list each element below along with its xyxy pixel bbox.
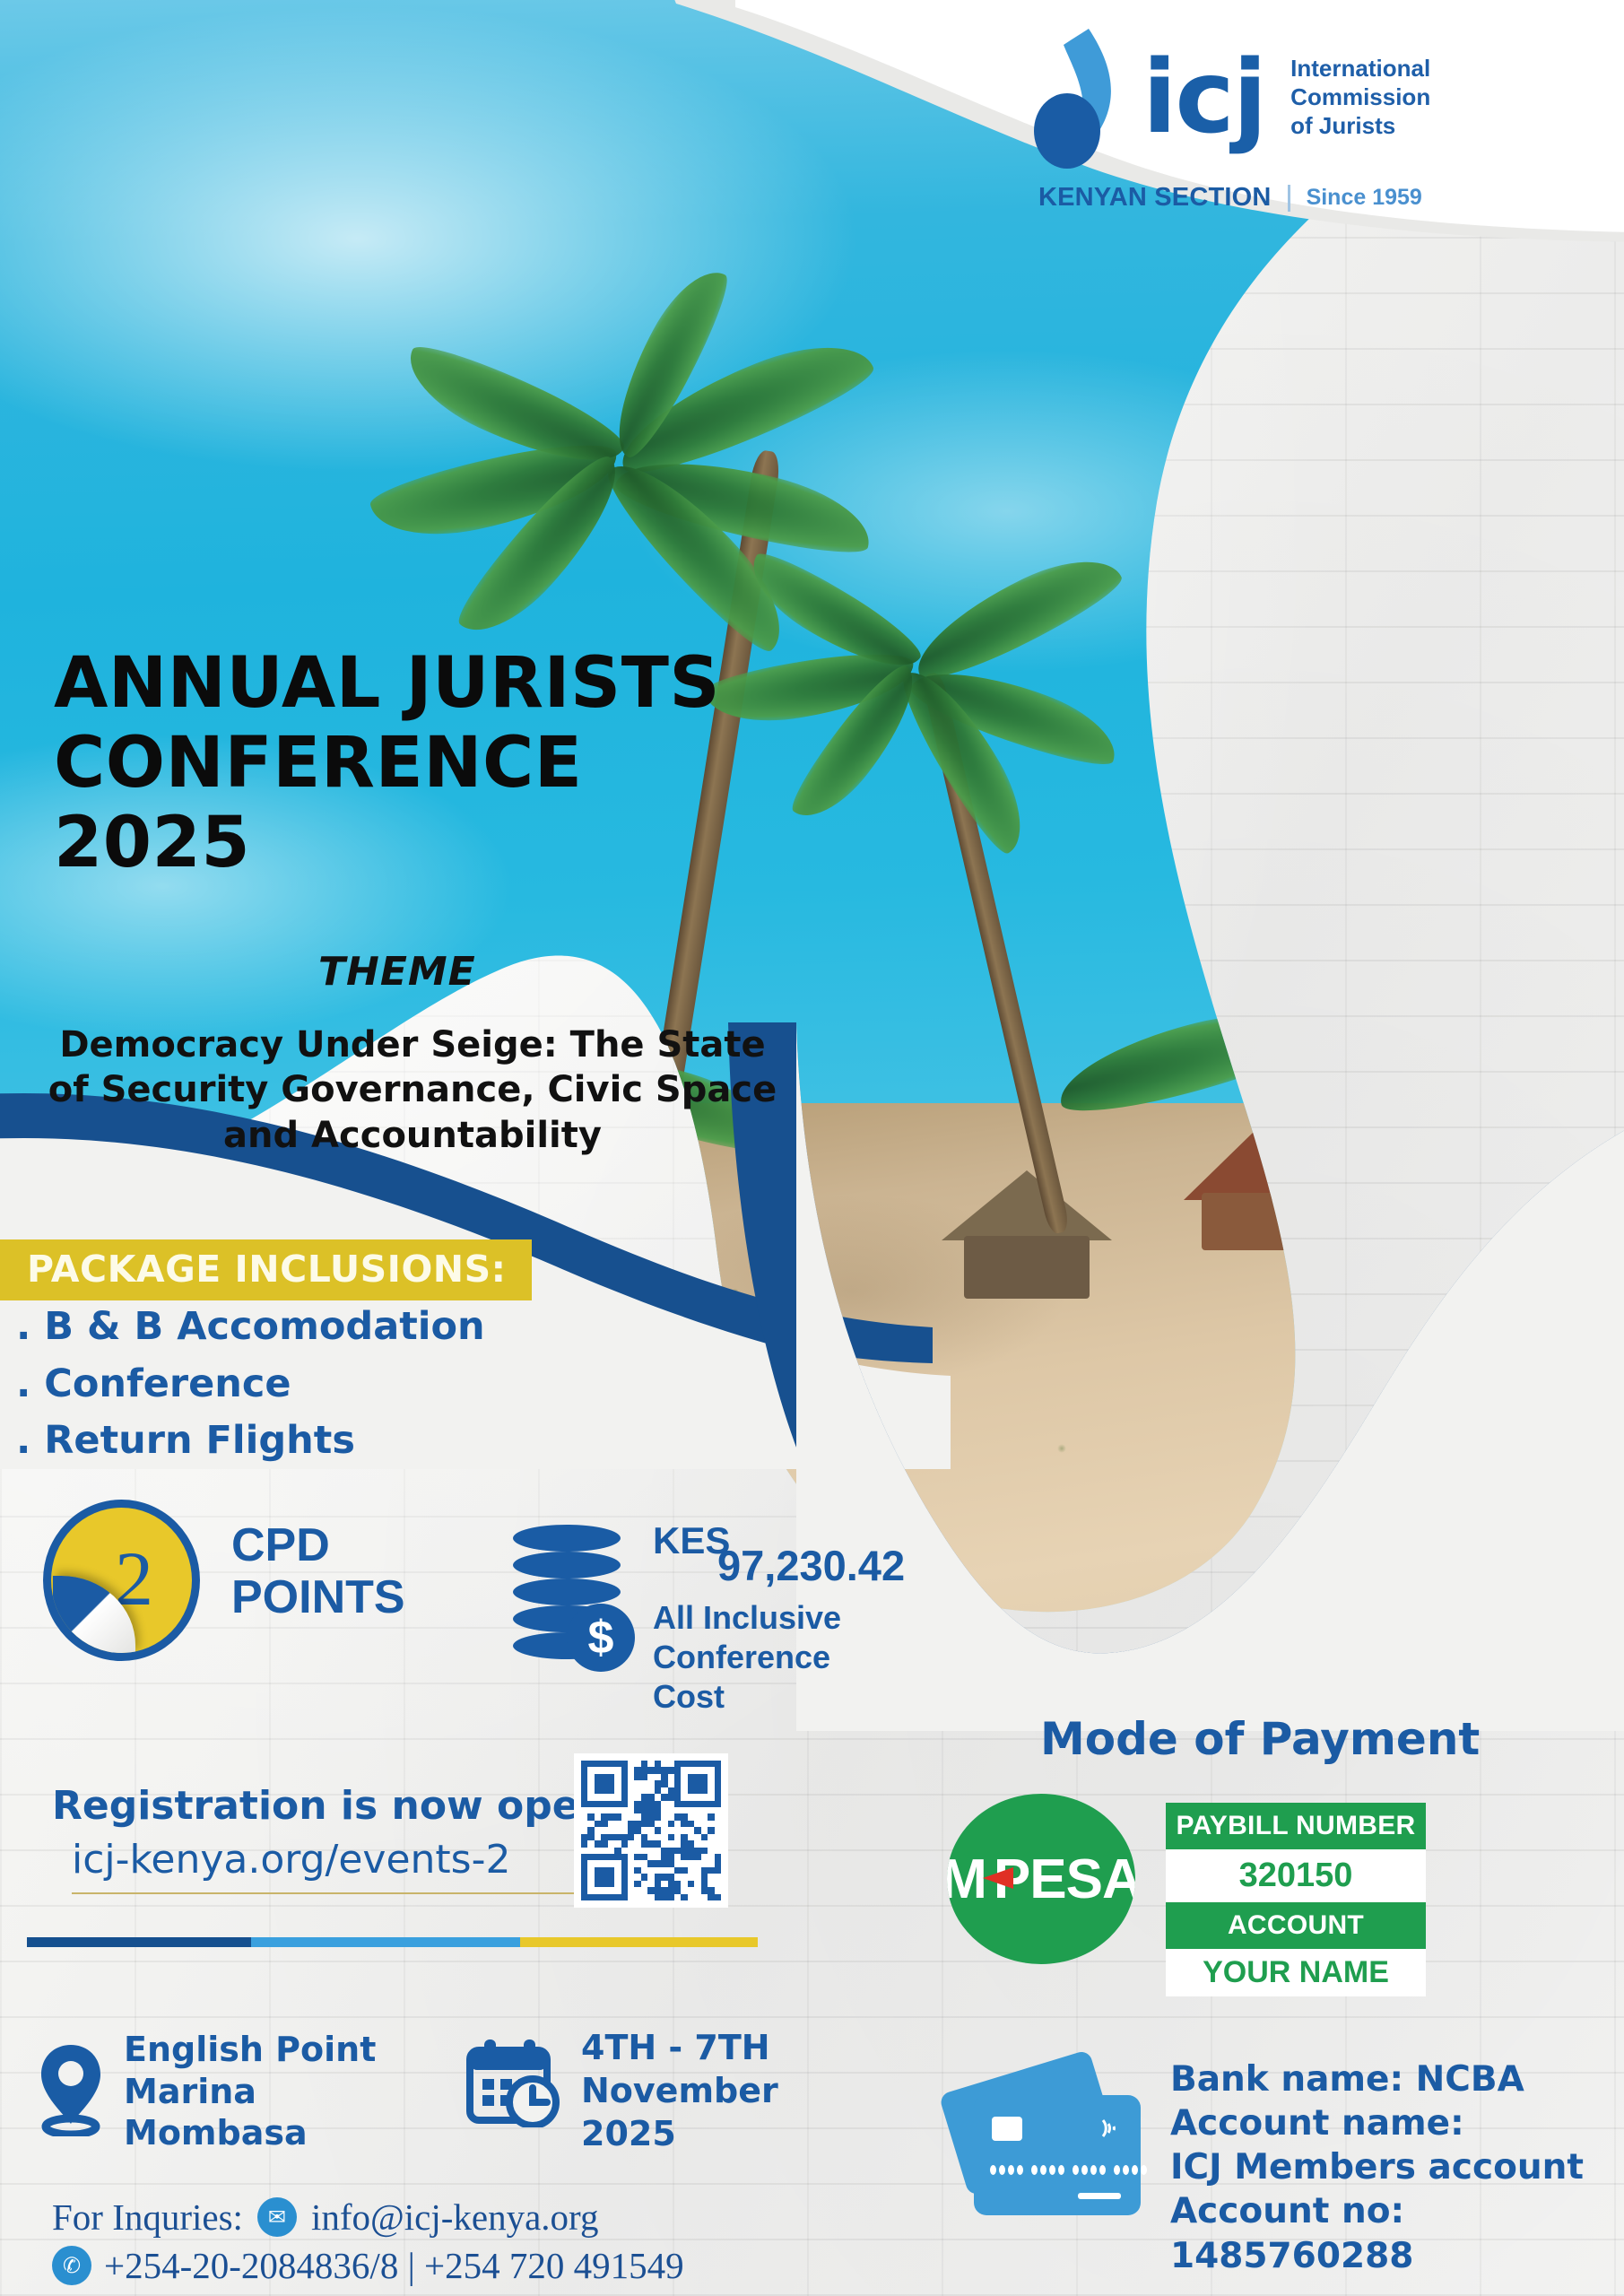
cpd-circle: 2: [43, 1500, 200, 1661]
account-value: YOUR NAME: [1166, 1949, 1426, 1996]
account-no-label: Account no:: [1170, 2189, 1584, 2233]
venue-address: English Point Marina Mombasa: [124, 2029, 376, 2154]
divider-segment-dark-blue: [27, 1937, 251, 1947]
logo-divider: [1288, 185, 1290, 212]
conference-poster: icj International Commission of Jurists …: [0, 0, 1624, 2296]
icj-logo: icj International Commission of Jurists …: [1031, 27, 1533, 251]
mpesa-logo: M PESA: [947, 1794, 1135, 1964]
envelope-icon: ✉: [257, 2197, 297, 2237]
list-item: . B & B Accomodation: [16, 1299, 485, 1356]
cpd-label: CPD POINTS: [231, 1519, 405, 1623]
contact-phones[interactable]: +254-20-2084836/8 | +254 720 491549: [104, 2244, 684, 2287]
account-name-value: ICJ Members account: [1170, 2145, 1584, 2189]
dates-line2: November: [581, 2070, 778, 2113]
bank-card-icon: [951, 2063, 1157, 2233]
theme-text: Democracy Under Seige: The State of Secu…: [18, 1022, 807, 1158]
event-dates: 4TH - 7TH November 2025: [581, 2027, 778, 2156]
theme-label: THEME: [318, 949, 476, 995]
beach-hut: [964, 1236, 1090, 1299]
registration-title: Registration is now open;: [52, 1783, 623, 1829]
card-number-dots: [990, 2165, 1147, 2175]
list-item: . Conference: [16, 1356, 485, 1413]
mpesa-pesa-letters: PESA: [994, 1848, 1135, 1911]
icj-name-line2: Commission: [1290, 83, 1430, 112]
icj-fullname: International Commission of Jurists: [1290, 55, 1430, 140]
tricolor-divider: [27, 1937, 758, 1947]
headline-line1: ANNUAL JURISTS: [54, 644, 861, 724]
cost-desc-line2: Conference: [653, 1638, 841, 1677]
headline-line3: 2025: [54, 804, 861, 883]
headline-line2: CONFERENCE: [54, 724, 861, 804]
account-no-value: 1485760288: [1170, 2234, 1584, 2278]
cpd-label-line2: POINTS: [231, 1571, 405, 1623]
mpesa-m-letter: M: [947, 1848, 986, 1911]
paybill-details-box: PAYBILL NUMBER 320150 ACCOUNT YOUR NAME: [1166, 1803, 1426, 1996]
registration-url[interactable]: icj-kenya.org/events-2: [72, 1837, 510, 1883]
card-strip: [1078, 2193, 1121, 2199]
divider-segment-light-blue: [251, 1937, 520, 1947]
contact-email[interactable]: info@icj-kenya.org: [311, 2196, 599, 2239]
since-label: Since 1959: [1307, 185, 1422, 211]
cost-description: All Inclusive Conference Cost: [653, 1598, 841, 1717]
coins-icon: $: [513, 1525, 638, 1664]
card-front: [974, 2095, 1141, 2215]
phone-row: ✆ +254-20-2084836/8 | +254 720 491549: [52, 2244, 684, 2287]
icj-flame-icon: [1031, 27, 1128, 169]
dates-line1: 4TH - 7TH: [581, 2027, 778, 2070]
mode-of-payment-title: Mode of Payment: [1040, 1713, 1480, 1765]
theme-line1: Democracy Under Seige: The State: [18, 1022, 807, 1067]
bank-name: Bank name: NCBA: [1170, 2057, 1584, 2101]
card-chip-icon: [992, 2117, 1022, 2141]
theme-line3: and Accountability: [18, 1113, 807, 1158]
phone-icon: ✆: [52, 2246, 91, 2285]
icj-name-line3: of Jurists: [1290, 112, 1430, 141]
paybill-label: PAYBILL NUMBER: [1166, 1803, 1426, 1849]
bank-details: Bank name: NCBA Account name: ICJ Member…: [1170, 2057, 1584, 2278]
divider-segment-yellow: [520, 1937, 758, 1947]
venue-line3: Mombasa: [124, 2112, 376, 2154]
account-name-label: Account name:: [1170, 2101, 1584, 2145]
palm-tree-2: [807, 628, 1184, 1238]
inquiries-row: For Inquries: ✉ info@icj-kenya.org: [52, 2196, 598, 2239]
kenyan-section-label: KENYAN SECTION: [1038, 183, 1272, 213]
inquiries-label: For Inquries:: [52, 2196, 243, 2239]
package-inclusions-heading: PACKAGE INCLUSIONS:: [0, 1239, 532, 1300]
package-inclusions-list: . B & B Accomodation . Conference . Retu…: [16, 1299, 485, 1470]
venue-line2: Marina: [124, 2071, 376, 2113]
location-pin-icon: [38, 2043, 104, 2136]
venue-line1: English Point: [124, 2029, 376, 2071]
cpd-label-line1: CPD: [231, 1519, 405, 1571]
paybill-number: 320150: [1166, 1849, 1426, 1902]
contactless-icon: [1099, 2115, 1123, 2142]
cost-desc-line1: All Inclusive: [653, 1598, 841, 1638]
icj-acronym: icj: [1142, 53, 1265, 143]
qr-code[interactable]: [574, 1753, 728, 1908]
dates-line3: 2025: [581, 2113, 778, 2156]
account-label: ACCOUNT: [1166, 1902, 1426, 1949]
theme-line2: of Security Governance, Civic Space: [18, 1067, 807, 1112]
list-item: . Return Flights: [16, 1413, 485, 1470]
registration-underline: [72, 1892, 574, 1894]
dollar-coin-icon: $: [567, 1604, 635, 1672]
cost-amount: 97,230.42: [717, 1541, 905, 1590]
icj-name-line1: International: [1290, 55, 1430, 83]
cost-desc-line3: Cost: [653, 1677, 841, 1717]
package-heading-text: PACKAGE INCLUSIONS:: [27, 1248, 507, 1291]
calendar-clock-icon: [465, 2038, 561, 2127]
page-title: ANNUAL JURISTS CONFERENCE 2025: [54, 644, 861, 883]
